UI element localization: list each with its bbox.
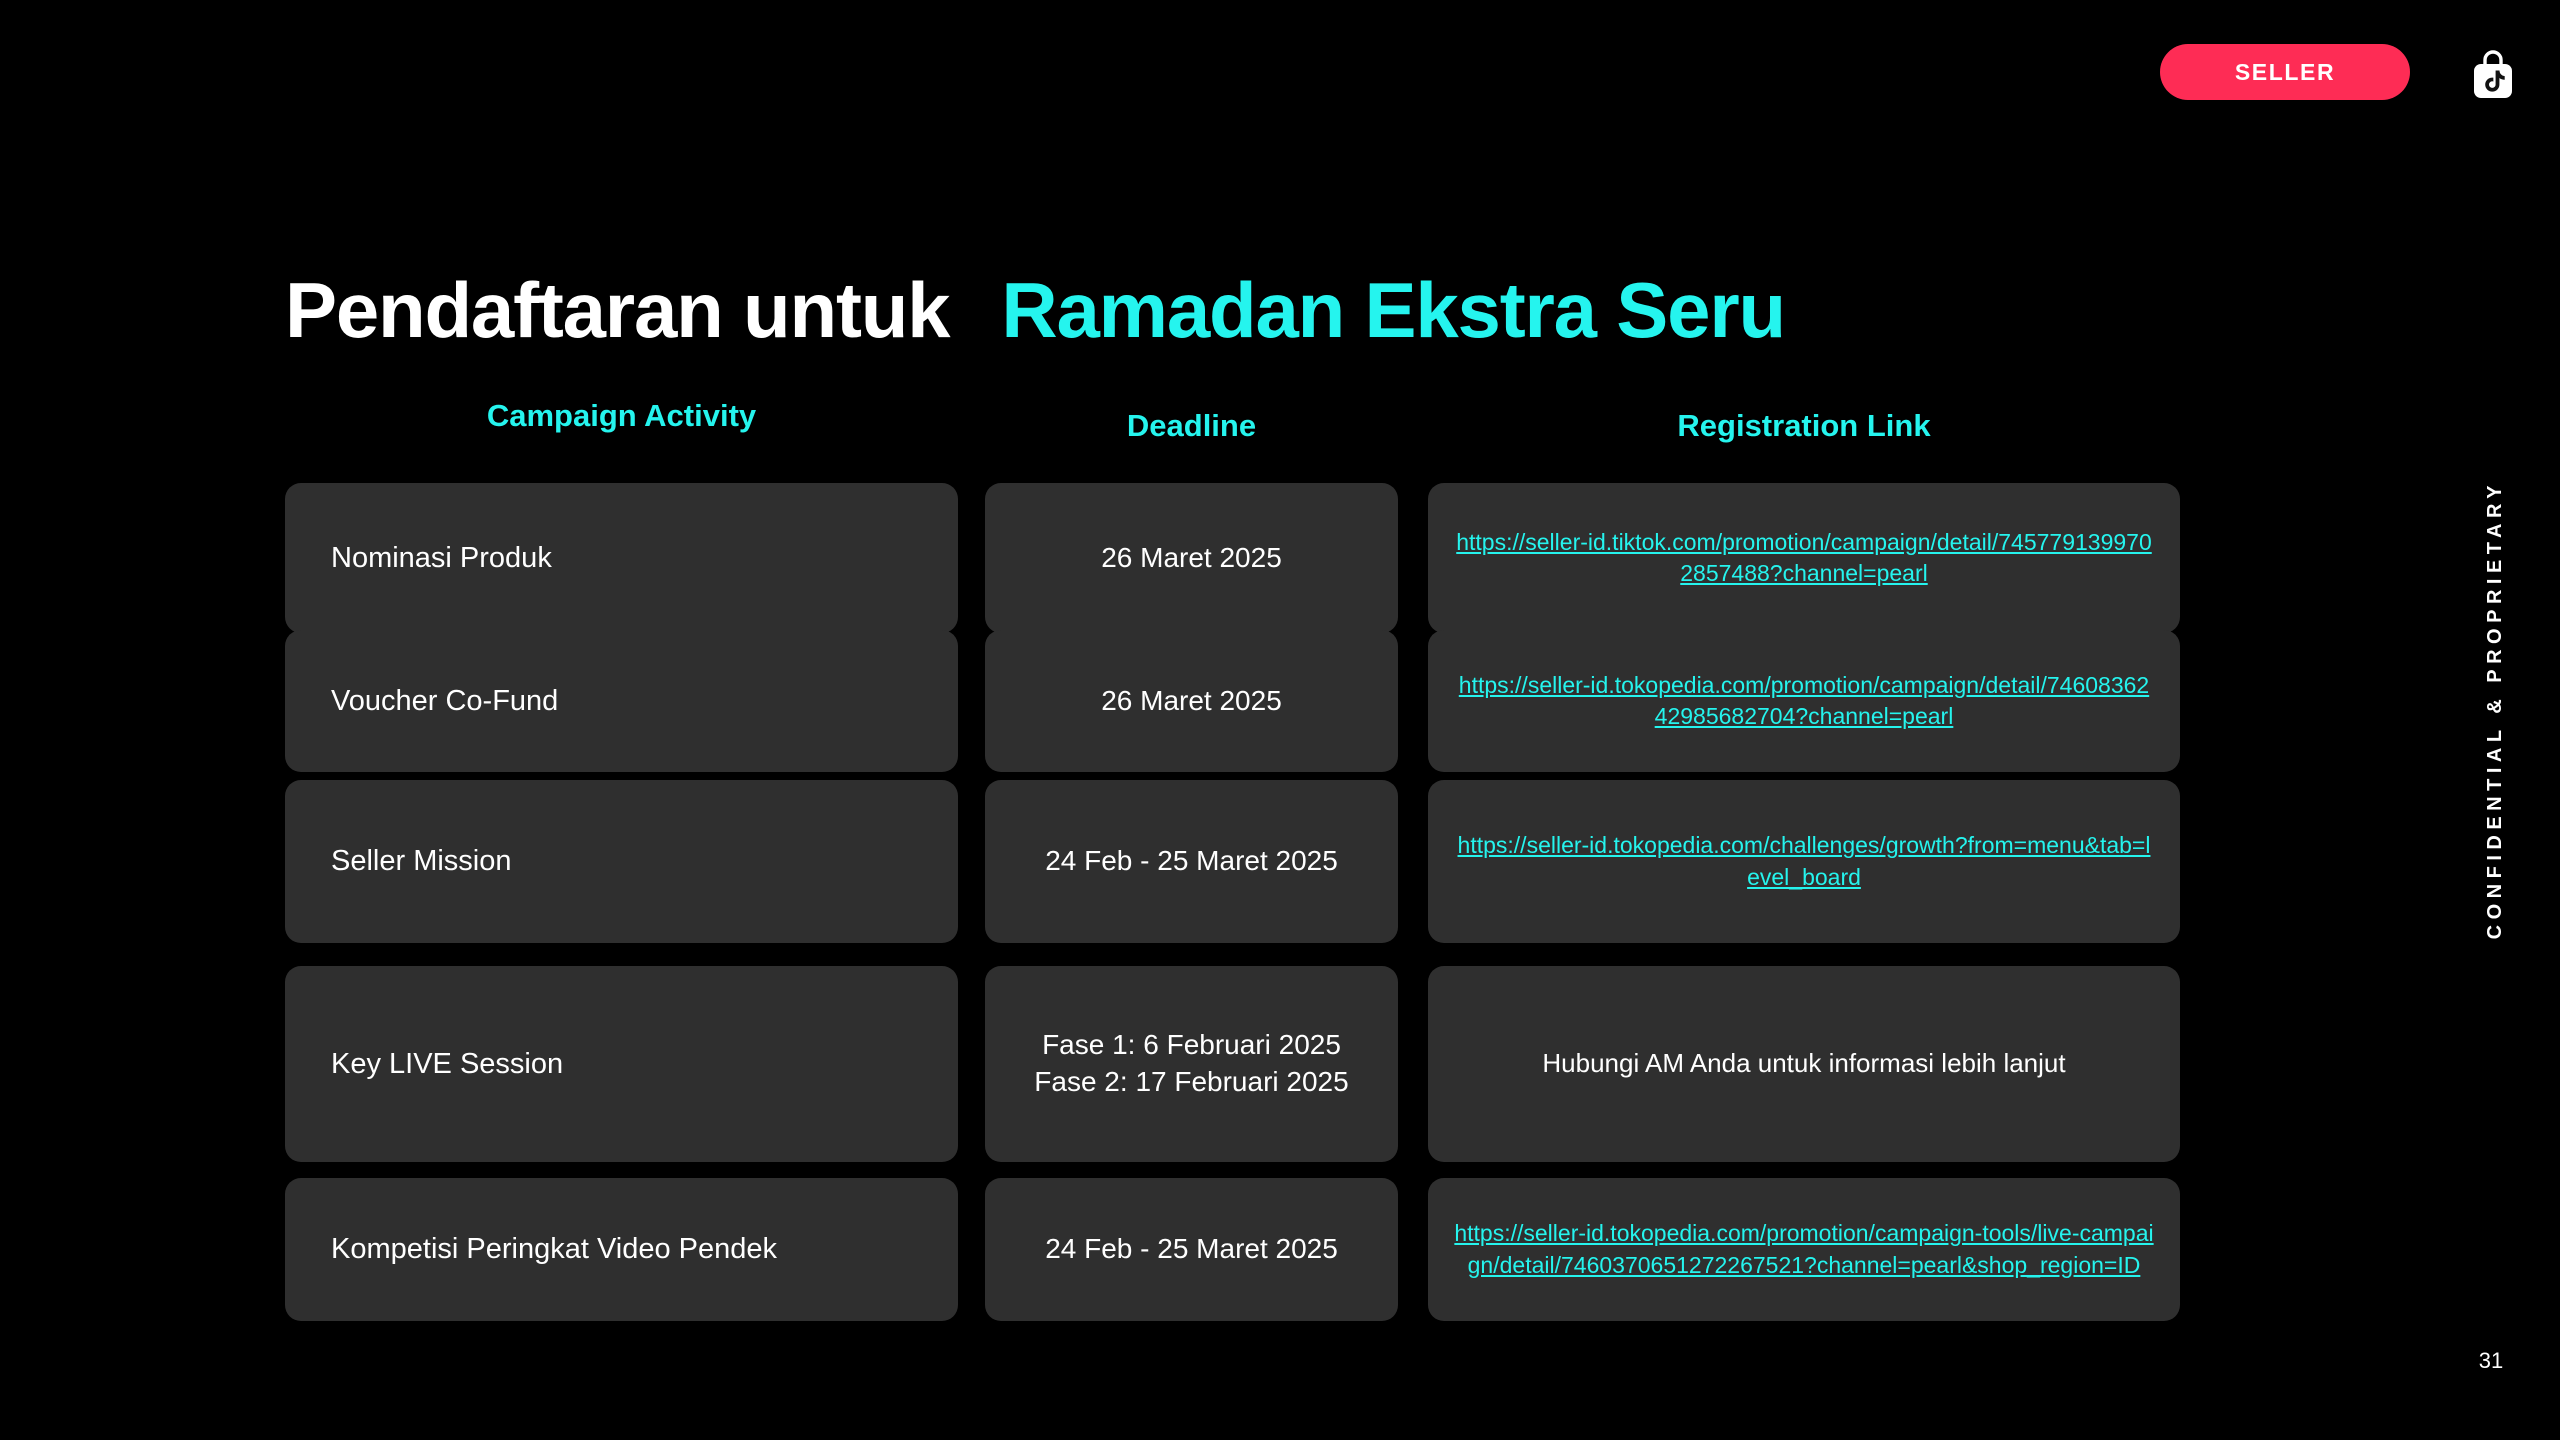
registration-note: Hubungi AM Anda untuk informasi lebih la… <box>1454 1046 2154 1081</box>
registration-link[interactable]: https://seller-id.tokopedia.com/promotio… <box>1459 672 2149 729</box>
table-cell-registration-link: Hubungi AM Anda untuk informasi lebih la… <box>1428 966 2180 1162</box>
table-cell-registration-link[interactable]: https://seller-id.tokopedia.com/challeng… <box>1428 780 2180 943</box>
slide-canvas: SELLER Pendaftaran untuk Ramadan Ekstra … <box>0 0 2560 1440</box>
table-cell-registration-link[interactable]: https://seller-id.tokopedia.com/promotio… <box>1428 1178 2180 1321</box>
registration-link-wrapper: https://seller-id.tokopedia.com/challeng… <box>1454 830 2154 893</box>
page-number: 31 <box>2466 1348 2516 1374</box>
deadline-label: Fase 1: 6 Februari 2025Fase 2: 17 Februa… <box>999 1027 1384 1101</box>
table-cell-deadline: 26 Maret 2025 <box>985 483 1398 633</box>
table-cell-activity: Seller Mission <box>285 780 958 943</box>
table-cell-activity: Nominasi Produk <box>285 483 958 633</box>
confidential-watermark: CONFIDENTIAL & PROPRIETARY <box>2470 440 2520 980</box>
activity-label: Key LIVE Session <box>331 1046 563 1082</box>
activity-label: Seller Mission <box>331 843 512 879</box>
registration-link-wrapper: https://seller-id.tokopedia.com/promotio… <box>1454 670 2154 733</box>
deadline-label: 24 Feb - 25 Maret 2025 <box>999 843 1384 880</box>
activity-label: Nominasi Produk <box>331 540 552 576</box>
table-cell-registration-link[interactable]: https://seller-id.tiktok.com/promotion/c… <box>1428 483 2180 633</box>
registration-link-wrapper: https://seller-id.tiktok.com/promotion/c… <box>1454 527 2154 590</box>
activity-label: Kompetisi Peringkat Video Pendek <box>331 1231 777 1267</box>
deadline-label: 24 Feb - 25 Maret 2025 <box>999 1231 1384 1268</box>
registration-link-wrapper: https://seller-id.tokopedia.com/promotio… <box>1454 1218 2154 1281</box>
table-cell-registration-link[interactable]: https://seller-id.tokopedia.com/promotio… <box>1428 630 2180 772</box>
table-cell-activity: Voucher Co-Fund <box>285 630 958 772</box>
deadline-label: 26 Maret 2025 <box>999 683 1384 720</box>
confidential-label: CONFIDENTIAL & PROPRIETARY <box>2484 480 2507 939</box>
table-cell-deadline: Fase 1: 6 Februari 2025Fase 2: 17 Februa… <box>985 966 1398 1162</box>
table-cell-deadline: 24 Feb - 25 Maret 2025 <box>985 780 1398 943</box>
deadline-label: 26 Maret 2025 <box>999 540 1384 577</box>
table-cell-deadline: 24 Feb - 25 Maret 2025 <box>985 1178 1398 1321</box>
activity-label: Voucher Co-Fund <box>331 683 558 719</box>
registration-table: Nominasi Produk26 Maret 2025https://sell… <box>0 0 2560 1440</box>
registration-link[interactable]: https://seller-id.tokopedia.com/promotio… <box>1454 1220 2153 1277</box>
table-cell-activity: Key LIVE Session <box>285 966 958 1162</box>
table-cell-deadline: 26 Maret 2025 <box>985 630 1398 772</box>
table-cell-activity: Kompetisi Peringkat Video Pendek <box>285 1178 958 1321</box>
registration-link[interactable]: https://seller-id.tokopedia.com/challeng… <box>1458 832 2151 889</box>
registration-link[interactable]: https://seller-id.tiktok.com/promotion/c… <box>1456 529 2152 586</box>
